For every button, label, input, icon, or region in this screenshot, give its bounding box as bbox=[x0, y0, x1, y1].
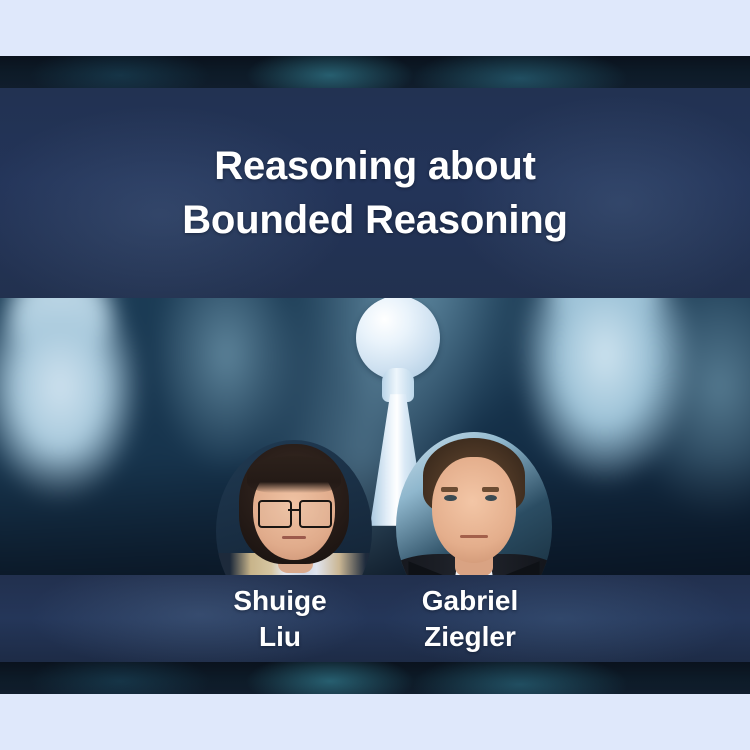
author-family-name: Liu bbox=[185, 619, 375, 655]
author-given-name: Shuige bbox=[185, 583, 375, 619]
author-family-name: Ziegler bbox=[375, 619, 565, 655]
portrait-glasses-bridge bbox=[288, 509, 299, 511]
poster-card: Reasoning about Bounded Reasoning bbox=[0, 56, 750, 694]
title-line-1: Reasoning about bbox=[214, 139, 535, 193]
portrait-mouth bbox=[282, 536, 307, 539]
author-given-name: Gabriel bbox=[375, 583, 565, 619]
portrait-face bbox=[432, 457, 516, 563]
author-name-2: Gabriel Ziegler bbox=[375, 583, 565, 655]
portrait-bangs bbox=[247, 456, 341, 492]
bottom-dark-band bbox=[0, 662, 750, 694]
top-dark-band bbox=[0, 56, 750, 88]
portrait-eyebrow-right bbox=[482, 487, 499, 492]
portrait-eyebrow-left bbox=[441, 487, 458, 492]
portrait-mouth bbox=[460, 535, 488, 538]
authors-panel: Shuige Liu Gabriel Ziegler bbox=[0, 575, 750, 662]
poster-root: Reasoning about Bounded Reasoning bbox=[0, 0, 750, 750]
portrait-glasses-left-lens bbox=[258, 500, 292, 528]
author-name-1: Shuige Liu bbox=[185, 583, 375, 655]
title-panel: Reasoning about Bounded Reasoning bbox=[0, 88, 750, 298]
title-line-2: Bounded Reasoning bbox=[182, 193, 568, 247]
portrait-glasses-right-lens bbox=[299, 500, 333, 528]
